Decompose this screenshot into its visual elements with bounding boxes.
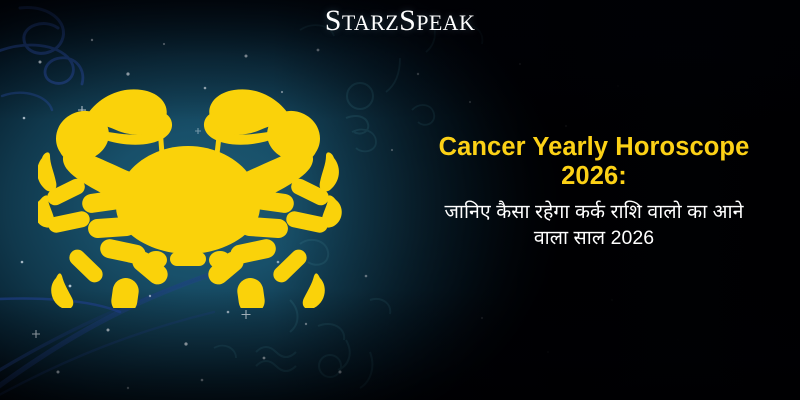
banner-text-block: Cancer Yearly Horoscope 2026: जानिए कैसा…	[398, 133, 790, 252]
subheading-line-1: जानिए कैसा रहेगा कर्क राशि वालो का आने	[444, 201, 743, 223]
logo-cap-1: S	[325, 4, 342, 37]
logo-rest-2: PEAK	[416, 10, 475, 35]
logo-cap-2: S	[399, 4, 416, 37]
subheading-line-2: वाला साल 2026	[534, 227, 654, 249]
crab-mouth-parts	[145, 251, 231, 269]
brand-logo[interactable]: STARZSPEAK	[0, 6, 800, 36]
crab-left-claw	[56, 89, 172, 161]
headline-line-2: 2026:	[561, 162, 627, 190]
horoscope-banner: STARZSPEAK Cancer Yearly Horoscope 2026:…	[0, 0, 800, 400]
crab-right-claw	[204, 89, 320, 161]
crab-body-group	[38, 89, 342, 308]
headline-line-1: Cancer Yearly Horoscope	[439, 133, 750, 161]
banner-subheading: जानिए कैसा रहेगा कर्क राशि वालो का आने व…	[398, 200, 790, 251]
crab-shell	[116, 146, 260, 254]
logo-rest-1: TARZ	[342, 10, 399, 35]
banner-headline: Cancer Yearly Horoscope 2026:	[398, 133, 790, 191]
cancer-crab-illustration	[38, 76, 378, 308]
